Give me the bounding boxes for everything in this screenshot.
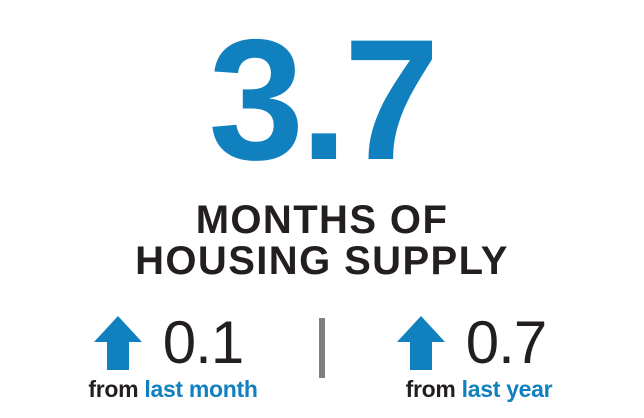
comparison-last-month-caption-period: last month bbox=[144, 376, 257, 402]
comparison-last-year-caption: from last year bbox=[325, 377, 609, 401]
comparison-row: 0.1 from last month 0.7 from last year bbox=[0, 312, 644, 408]
comparison-last-month-value: 0.1 bbox=[163, 313, 243, 373]
comparison-last-month-value-group: 0.1 bbox=[35, 312, 319, 374]
primary-metric-value: 3.7 bbox=[0, 14, 644, 186]
page-title-line-2: HOUSING SUPPLY bbox=[0, 241, 644, 282]
comparison-last-year-value-group: 0.7 bbox=[325, 312, 609, 374]
housing-supply-infographic: 3.7 MONTHS OF HOUSING SUPPLY 0.1 from la… bbox=[0, 0, 644, 418]
comparison-last-year: 0.7 from last year bbox=[325, 312, 609, 408]
comparison-last-year-caption-period: last year bbox=[462, 376, 553, 402]
comparison-last-year-caption-prefix: from bbox=[406, 376, 456, 402]
arrow-up-icon bbox=[396, 315, 446, 371]
comparison-last-year-value: 0.7 bbox=[466, 313, 546, 373]
comparison-last-month-caption: from last month bbox=[35, 377, 319, 401]
arrow-up-icon bbox=[93, 315, 143, 371]
comparison-last-month: 0.1 from last month bbox=[35, 312, 319, 408]
comparison-last-month-caption-prefix: from bbox=[88, 376, 138, 402]
page-title: MONTHS OF HOUSING SUPPLY bbox=[0, 200, 644, 282]
page-title-line-1: MONTHS OF bbox=[0, 200, 644, 241]
